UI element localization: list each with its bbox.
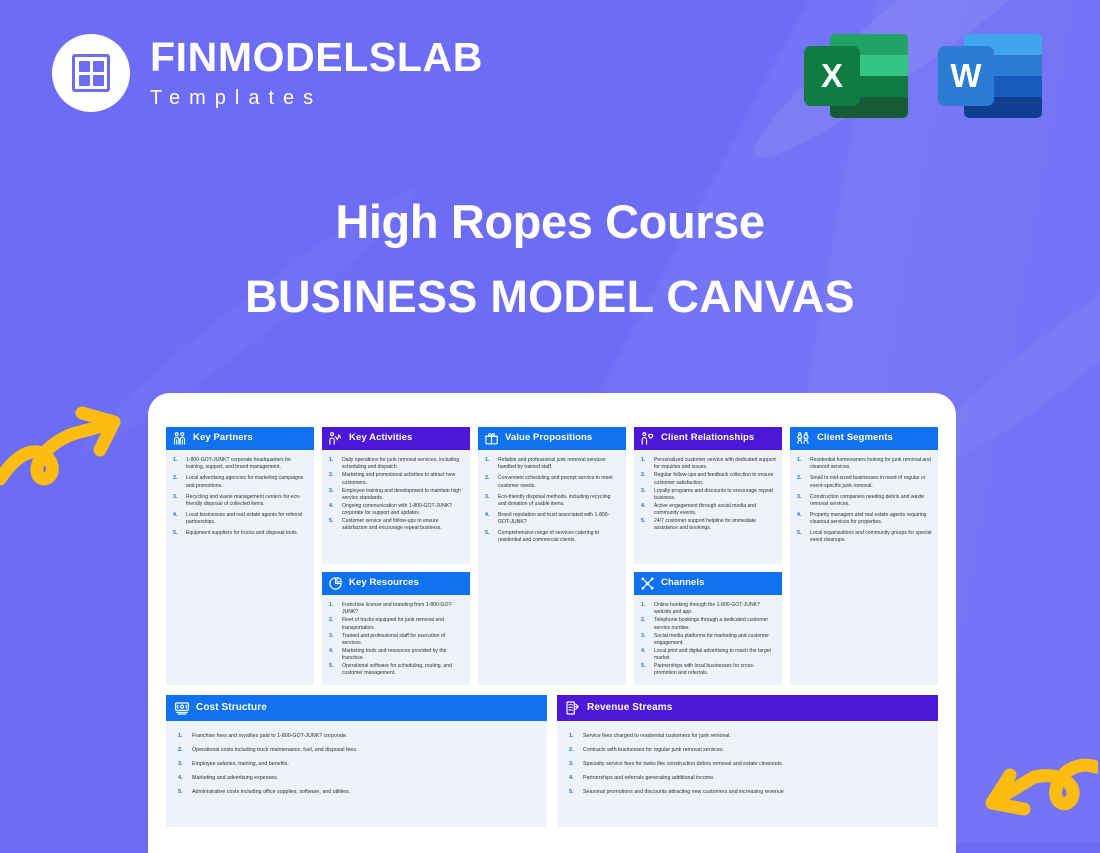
block-header: Client Segments	[790, 427, 938, 450]
block-header: Cost Structure	[166, 695, 547, 721]
canvas-top-grid: Key Partners 1-800-GOT-JUNK? corporate h…	[166, 427, 938, 685]
block-header: Key Partners	[166, 427, 314, 450]
block-body: Franchise license and branding from 1-80…	[322, 595, 470, 684]
person-activity-icon	[328, 431, 343, 446]
block-body: Online booking through the 1-800-GOT-JUN…	[634, 595, 782, 684]
list-item: Personalized customer service with dedic…	[639, 457, 776, 472]
list-item: Online booking through the 1-800-GOT-JUN…	[639, 602, 776, 617]
brand-name: FINMODELSLAB	[150, 37, 483, 78]
list-item: Partnerships and referrals generating ad…	[565, 775, 928, 782]
block-header: Key Resources	[322, 572, 470, 595]
block-body: 1-800-GOT-JUNK? corporate headquarters f…	[166, 450, 314, 547]
list-item: Marketing and advertising expenses.	[174, 775, 537, 782]
list-item: Daily operations for junk removal servic…	[327, 457, 464, 472]
block-item-list: Personalized customer service with dedic…	[639, 457, 776, 533]
list-item: Local businesses and real estate agents …	[171, 512, 308, 527]
list-item: Marketing tools and resources provided b…	[327, 648, 464, 663]
logo-circle	[52, 34, 130, 112]
list-item: 1-800-GOT-JUNK? corporate headquarters f…	[171, 457, 308, 472]
block-cost-structure[interactable]: Cost Structure Franchise fees and royalt…	[166, 695, 547, 827]
brand-header: FINMODELSLAB Templates	[52, 34, 483, 112]
list-item: Marketing and promotional activities to …	[327, 472, 464, 487]
file-format-badges: X W	[804, 28, 1042, 122]
block-body: Residential homeowners looking for junk …	[790, 450, 938, 554]
two-people-icon	[172, 431, 187, 446]
block-item-list: Service fees charged to residential cust…	[565, 733, 928, 795]
list-item: Eco-friendly disposal methods, including…	[483, 494, 620, 509]
canvas-bottom-grid: Cost Structure Franchise fees and royalt…	[166, 695, 938, 827]
block-body: Personalized customer service with dedic…	[634, 450, 782, 539]
title-block: High Ropes Course BUSINESS MODEL CANVAS	[0, 195, 1100, 323]
list-item: Ongoing communication with 1-800-GOT-JUN…	[327, 503, 464, 518]
block-body: Service fees charged to residential cust…	[557, 721, 938, 810]
list-item: Convenient scheduling and prompt service…	[483, 475, 620, 490]
list-item: Telephone bookings through a dedicated c…	[639, 617, 776, 632]
block-channels[interactable]: Channels Online booking through the 1-80…	[634, 572, 782, 685]
list-item: Administrative costs including office su…	[174, 789, 537, 796]
canvas-column-4: Client Relationships Personalized custom…	[634, 427, 782, 685]
block-title: Value Propositions	[505, 433, 592, 444]
grid-logo-icon	[72, 54, 110, 92]
excel-icon: X	[804, 28, 908, 122]
list-item: Comprehensive range of services catering…	[483, 530, 620, 545]
block-title: Client Segments	[817, 433, 893, 444]
block-item-list: Franchise license and branding from 1-80…	[327, 602, 464, 678]
list-item: Recycling and waste management centers f…	[171, 494, 308, 509]
list-item: Franchise fees and royalties paid to 1-8…	[174, 733, 537, 740]
list-item: Partnerships with local businesses for c…	[639, 663, 776, 678]
list-item: Employee salaries, training, and benefit…	[174, 761, 537, 768]
business-model-canvas-card: Key Partners 1-800-GOT-JUNK? corporate h…	[148, 393, 956, 853]
block-key-partners[interactable]: Key Partners 1-800-GOT-JUNK? corporate h…	[166, 427, 314, 685]
brand-tagline: Templates	[150, 87, 483, 110]
people-group-icon	[796, 431, 811, 446]
list-item: Seasonal promotions and discounts attrac…	[565, 789, 928, 796]
canvas-column-2: Key Activities Daily operations for junk…	[322, 427, 470, 685]
list-item: Reliable and professional junk removal s…	[483, 457, 620, 472]
list-item: Construction companies needing debris an…	[795, 494, 932, 509]
block-item-list: Residential homeowners looking for junk …	[795, 457, 932, 545]
block-body: Franchise fees and royalties paid to 1-8…	[166, 721, 547, 810]
list-item: Service fees charged to residential cust…	[565, 733, 928, 740]
list-item: Brand reputation and trust associated wi…	[483, 512, 620, 527]
list-item: Fleet of trucks equipped for junk remova…	[327, 617, 464, 632]
page-title: High Ropes Course	[0, 195, 1100, 249]
list-item: Operational costs including truck mainte…	[174, 747, 537, 754]
canvas-column-5: Client Segments Residential homeowners l…	[790, 427, 938, 685]
block-client-relationships[interactable]: Client Relationships Personalized custom…	[634, 427, 782, 564]
block-item-list: 1-800-GOT-JUNK? corporate headquarters f…	[171, 457, 308, 537]
block-title: Channels	[661, 578, 705, 589]
list-item: Franchise license and branding from 1-80…	[327, 602, 464, 617]
list-item: Local organizations and community groups…	[795, 530, 932, 545]
block-item-list: Reliable and professional junk removal s…	[483, 457, 620, 545]
block-header: Revenue Streams	[557, 695, 938, 721]
list-item: Trained and professional staff for execu…	[327, 633, 464, 648]
list-item: Customer service and follow-ups to ensur…	[327, 518, 464, 533]
block-title: Client Relationships	[661, 433, 754, 444]
block-header: Channels	[634, 572, 782, 595]
word-icon: W	[938, 28, 1042, 122]
block-title: Key Activities	[349, 433, 412, 444]
list-item: Social media platforms for marketing and…	[639, 633, 776, 648]
arrow-down-left-icon	[968, 757, 1098, 843]
list-item: Operational software for scheduling, rou…	[327, 663, 464, 678]
list-item: Property managers and real estate agents…	[795, 512, 932, 527]
list-item: Small to mid-sized businesses in need of…	[795, 475, 932, 490]
block-title: Revenue Streams	[587, 702, 672, 713]
brand-text: FINMODELSLAB Templates	[150, 37, 483, 110]
block-value-propositions[interactable]: Value Propositions Reliable and professi…	[478, 427, 626, 685]
canvas-column-3: Value Propositions Reliable and professi…	[478, 427, 626, 685]
arrow-up-right-icon	[0, 405, 128, 497]
block-body: Daily operations for junk removal servic…	[322, 450, 470, 539]
block-key-activities[interactable]: Key Activities Daily operations for junk…	[322, 427, 470, 564]
block-client-segments[interactable]: Client Segments Residential homeowners l…	[790, 427, 938, 685]
block-revenue-streams[interactable]: Revenue Streams Service fees charged to …	[557, 695, 938, 827]
list-item: Active engagement through social media a…	[639, 503, 776, 518]
block-header: Value Propositions	[478, 427, 626, 450]
list-item: 24/7 customer support helpline for immed…	[639, 518, 776, 533]
excel-letter: X	[804, 46, 860, 106]
block-item-list: Daily operations for junk removal servic…	[327, 457, 464, 533]
page-subtitle: BUSINESS MODEL CANVAS	[0, 271, 1100, 323]
block-title: Cost Structure	[196, 702, 267, 713]
list-item: Contracts with businesses for regular ju…	[565, 747, 928, 754]
block-title: Key Partners	[193, 433, 253, 444]
block-header: Client Relationships	[634, 427, 782, 450]
block-body: Reliable and professional junk removal s…	[478, 450, 626, 554]
building-arrow-icon	[565, 700, 581, 716]
list-item: Specialty service fees for tasks like co…	[565, 761, 928, 768]
list-item: Equipment suppliers for trucks and dispo…	[171, 530, 308, 537]
block-item-list: Online booking through the 1-800-GOT-JUN…	[639, 602, 776, 678]
money-bill-icon	[174, 700, 190, 716]
list-item: Regular follow-ups and feedback collecti…	[639, 472, 776, 487]
network-nodes-icon	[640, 576, 655, 591]
list-item: Residential homeowners looking for junk …	[795, 457, 932, 472]
block-header: Key Activities	[322, 427, 470, 450]
list-item: Local advertising agencies for marketing…	[171, 475, 308, 490]
word-letter: W	[938, 46, 994, 106]
block-item-list: Franchise fees and royalties paid to 1-8…	[174, 733, 537, 795]
canvas-column-1: Key Partners 1-800-GOT-JUNK? corporate h…	[166, 427, 314, 685]
pie-chart-icon	[328, 576, 343, 591]
list-item: Employee training and development to mai…	[327, 488, 464, 503]
list-item: Local print and digital advertising to r…	[639, 648, 776, 663]
gift-icon	[484, 431, 499, 446]
list-item: Loyalty programs and discounts to encour…	[639, 488, 776, 503]
block-title: Key Resources	[349, 578, 419, 589]
block-key-resources[interactable]: Key Resources Franchise license and bran…	[322, 572, 470, 685]
person-heart-icon	[640, 431, 655, 446]
